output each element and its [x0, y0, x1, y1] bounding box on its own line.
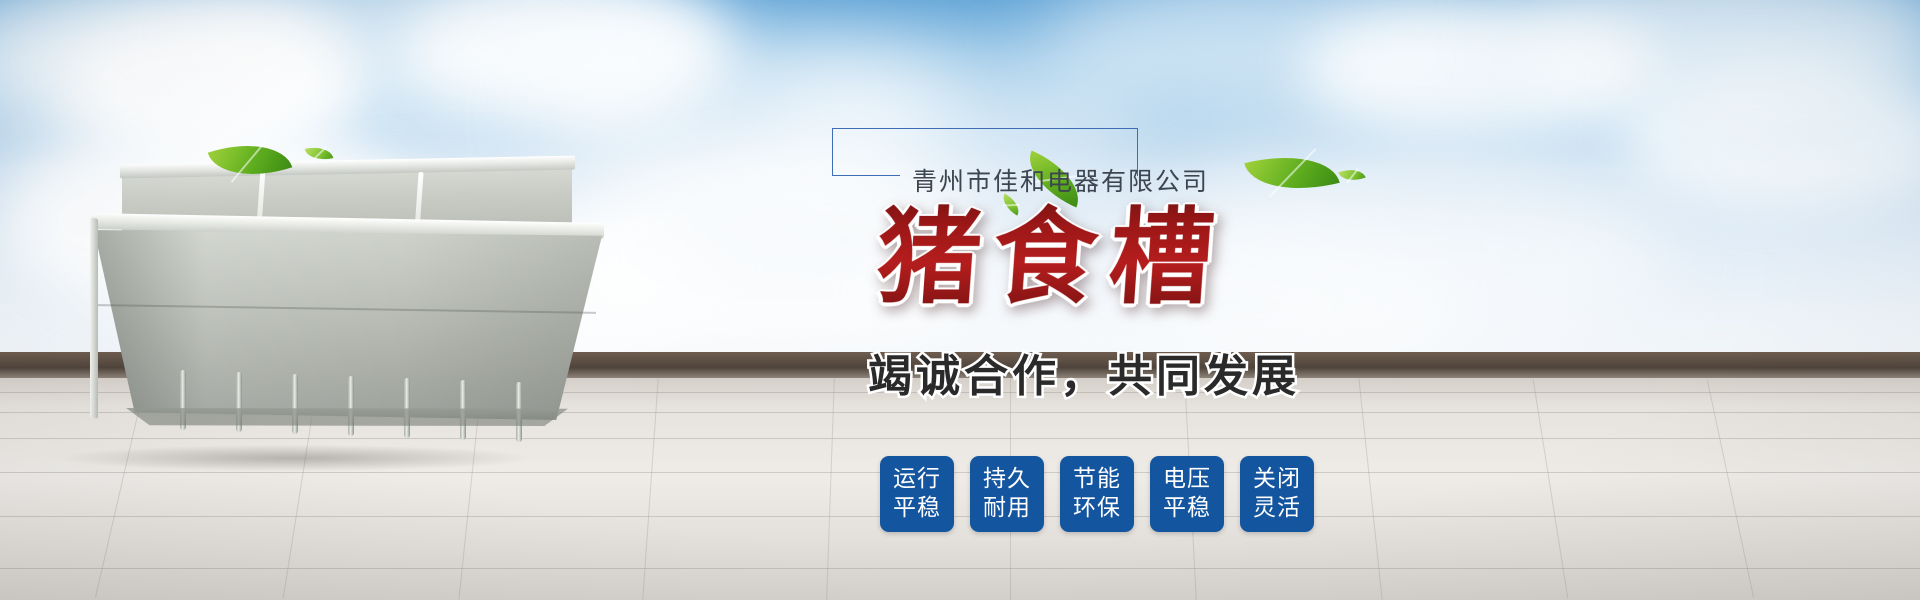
feature-badge-line1: 节能 [1073, 465, 1121, 494]
feature-badge-list: 运行 平稳 持久 耐用 节能 环保 电压 平稳 关闭 灵活 [880, 456, 1314, 532]
product-shadow [60, 445, 530, 471]
feature-badge-line1: 电压 [1163, 465, 1211, 494]
feature-badge[interactable]: 节能 环保 [1060, 456, 1134, 532]
feature-badge[interactable]: 运行 平稳 [880, 456, 954, 532]
product-image-pig-feeder [78, 160, 598, 470]
product-banner: 青州市佳和电器有限公司 猪食槽 竭诚合作，共同发展 运行 平稳 持久 耐用 节能… [0, 0, 1920, 600]
feature-badge-line2: 耐用 [983, 494, 1031, 523]
feature-badge-line1: 运行 [893, 465, 941, 494]
feature-badge-line1: 持久 [983, 465, 1031, 494]
feature-badge-line2: 环保 [1073, 494, 1121, 523]
feature-badge-line2: 平稳 [893, 494, 941, 523]
banner-subtitle: 竭诚合作，共同发展 [868, 340, 1300, 404]
feature-badge-line2: 灵活 [1253, 494, 1301, 523]
feature-badge[interactable]: 持久 耐用 [970, 456, 1044, 532]
feature-badge-line2: 平稳 [1163, 494, 1211, 523]
feature-badge[interactable]: 关闭 灵活 [1240, 456, 1314, 532]
page-title: 猪食槽 [873, 172, 1232, 323]
feature-badge[interactable]: 电压 平稳 [1150, 456, 1224, 532]
feature-badge-line1: 关闭 [1253, 465, 1301, 494]
